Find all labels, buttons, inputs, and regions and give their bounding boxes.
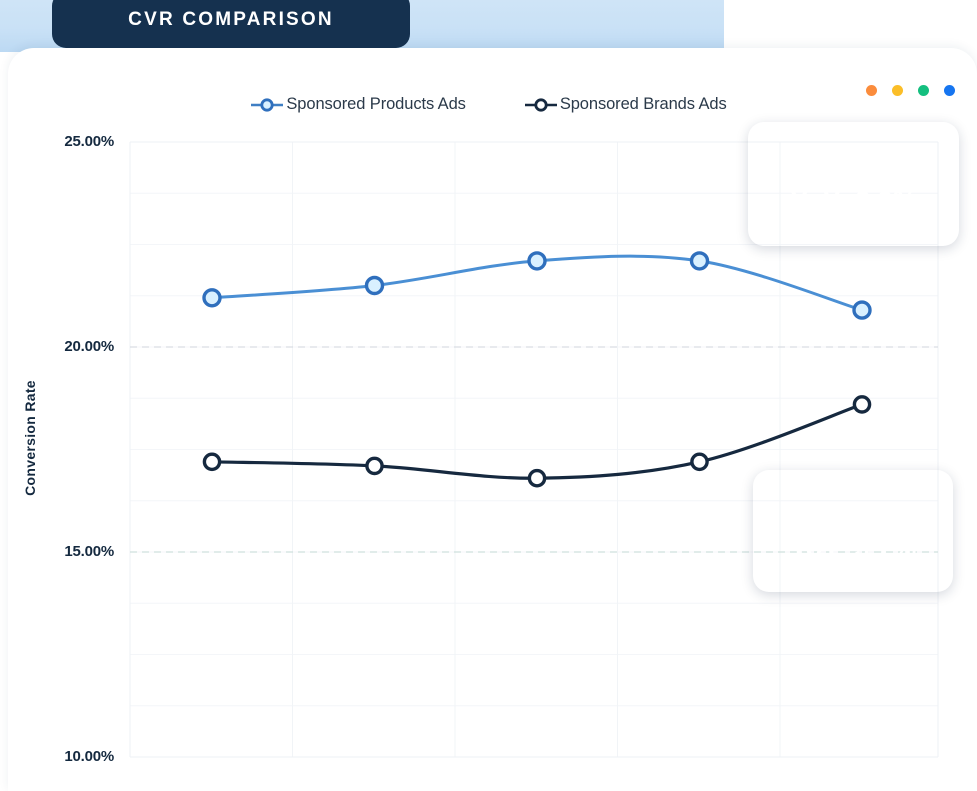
chart-legend: Sponsored Products Ads Sponsored Brands … (0, 95, 977, 114)
legend-marker-icon (250, 97, 284, 113)
dot-orange-icon (866, 85, 877, 96)
data-point-marker[interactable] (529, 471, 544, 486)
data-point-marker[interactable] (692, 454, 707, 469)
dot-blue-icon (944, 85, 955, 96)
callout-qoq-value: QoQ: -3.8% (781, 150, 927, 184)
data-point-marker[interactable] (204, 454, 219, 469)
legend-label: Sponsored Brands Ads (560, 95, 727, 114)
chart-screenshot: CVR COMPARISON Sponsored Products Ads Sp… (0, 0, 977, 791)
callout-yoy-value: YoY: 3.9% (790, 184, 917, 218)
y-axis-tick-label: 20.00% (22, 338, 114, 355)
line-chart-svg (0, 0, 977, 791)
callout-qoq-value: QoQ: -5.4% (780, 497, 926, 531)
data-point-marker[interactable] (204, 290, 220, 306)
data-point-marker[interactable] (529, 253, 545, 269)
page-title: CVR COMPARISON (128, 9, 334, 31)
y-axis-title: Conversion Rate (22, 368, 38, 508)
legend-item-sponsored-products-ads[interactable]: Sponsored Products Ads (250, 95, 465, 114)
dot-green-icon (918, 85, 929, 96)
chart-title-pill: CVR COMPARISON (52, 0, 410, 48)
legend-label: Sponsored Products Ads (286, 95, 465, 114)
dot-yellow-icon (892, 85, 903, 96)
callout-sponsored-brands: QoQ: -5.4% YoY: 3.7% (753, 470, 953, 592)
decorative-dots (866, 85, 955, 96)
plot-area: 25.00% 20.00% 15.00% 10.00% Conversion R… (0, 0, 977, 791)
data-point-marker[interactable] (692, 253, 708, 269)
legend-marker-icon (524, 97, 558, 113)
series-sponsored-products-ads (204, 253, 870, 318)
y-axis-tick-label: 25.00% (22, 133, 114, 150)
y-axis-tick-label: 10.00% (22, 748, 114, 765)
y-axis-tick-label: 15.00% (22, 543, 114, 560)
data-point-marker[interactable] (367, 278, 383, 294)
series-layer (204, 253, 870, 486)
data-point-marker[interactable] (854, 397, 869, 412)
series-line (212, 404, 862, 478)
data-point-marker[interactable] (367, 458, 382, 473)
callout-yoy-value: YoY: 3.7% (790, 531, 917, 565)
legend-item-sponsored-brands-ads[interactable]: Sponsored Brands Ads (524, 95, 727, 114)
data-point-marker[interactable] (854, 302, 870, 318)
callout-sponsored-products: QoQ: -3.8% YoY: 3.9% (748, 122, 959, 246)
